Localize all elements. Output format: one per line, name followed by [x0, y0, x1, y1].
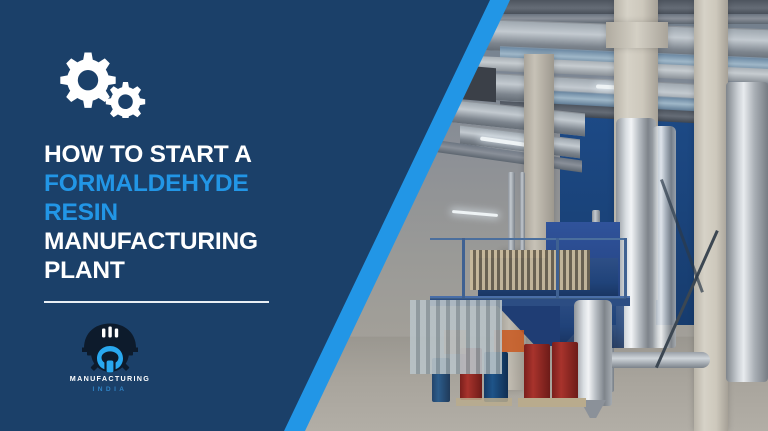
hardhat-gear-wrench-logo-icon — [75, 315, 145, 373]
brand-logo: MANUFACTURING INDIA — [50, 315, 170, 411]
headline-line-5: PLANT — [44, 257, 125, 284]
divider — [44, 301, 269, 303]
banner: HOW TO START A FORMALDEHYDE RESIN MANUFA… — [0, 0, 768, 431]
content-column: HOW TO START A FORMALDEHYDE RESIN MANUFA… — [44, 0, 344, 431]
page-title: HOW TO START A FORMALDEHYDE RESIN MANUFA… — [44, 140, 300, 285]
logo-brand-text: MANUFACTURING — [50, 374, 170, 383]
headline-line-3: RESIN — [44, 199, 118, 226]
logo-subbrand-text: INDIA — [50, 386, 170, 393]
headline-line-4: MANUFACTURING — [44, 228, 258, 255]
headline-line-1: HOW TO START A — [44, 141, 252, 168]
headline-line-2: FORMALDEHYDE — [44, 170, 249, 197]
gears-icon — [44, 48, 152, 118]
